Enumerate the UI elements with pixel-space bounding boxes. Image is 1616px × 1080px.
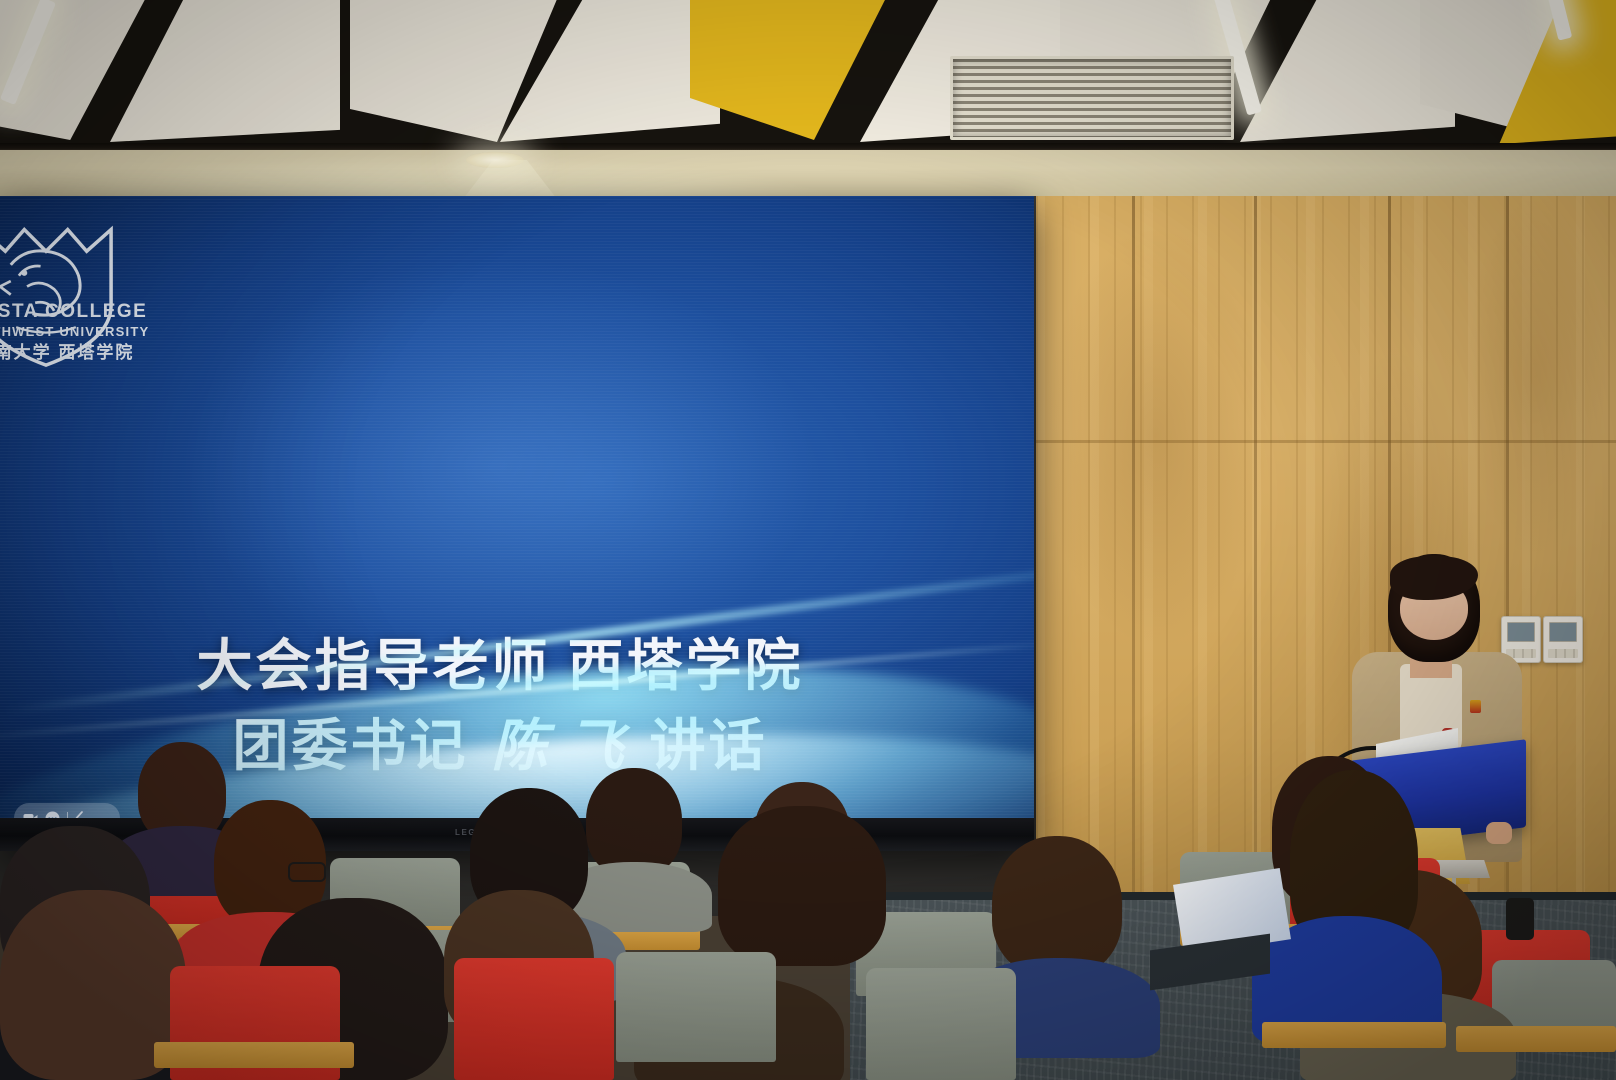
podium-ledge [1296,860,1490,878]
display-screen[interactable]: SIESTA COLLEGE SOUTHWEST UNIVERSITY 西南大学… [0,196,1034,818]
speaker-hand-right [1486,822,1512,844]
audience-shoulder [0,972,186,1080]
college-name-en-secondary: SOUTHWEST UNIVERSITY [0,324,150,340]
slide-title-line-1: 大会指导老师 西塔学院 [0,628,1000,708]
control-panel-buttons[interactable] [1548,649,1578,658]
slide-title: 大会指导老师 西塔学院 团委书记 陈 飞 讲话 [0,628,1000,787]
audience-head [0,890,186,1080]
seat [176,936,310,1032]
ceiling-downlight [466,152,524,168]
seat [396,930,546,1022]
screen-glow [180,256,820,676]
slide-title-line-2-suffix: 讲话 [633,716,768,778]
wall-control-panel[interactable] [1543,616,1583,663]
seat-armrest [140,924,280,946]
more-options-icon[interactable] [45,811,60,819]
control-panel-display [1549,622,1577,642]
slide-title-line-2-prefix: 团委书记 [233,716,486,778]
seat [170,966,340,1080]
wood-seam [1254,196,1257,966]
podium-and-speaker [1290,560,1530,980]
audience-head [258,898,448,1080]
seat-armrest [154,1042,354,1068]
presentation-display[interactable]: SIESTA COLLEGE SOUTHWEST UNIVERSITY 西南大学… [0,196,1034,851]
display-bezel: LEGRAND [0,818,1034,851]
lapel-pin [1470,700,1481,713]
slide-title-line-2: 团委书记 陈 飞 讲话 [0,708,1000,788]
audience-shoulder [446,912,626,1002]
seat-armrest [560,928,700,950]
ceiling-panel-accent [690,0,890,140]
audience-head [634,978,844,1080]
conference-hall-scene: SIESTA COLLEGE SOUTHWEST UNIVERSITY 西南大学… [0,0,1616,1080]
college-name-cn: 西南大学 西塔学院 [0,342,150,363]
speaker-name: 陈 飞 [486,716,633,778]
ceiling [0,0,1616,150]
seat-armrest [330,926,470,948]
audience-shoulder [176,912,362,992]
bull-crest-emblem-icon [1368,912,1410,958]
college-name-block: SIESTA COLLEGE SOUTHWEST UNIVERSITY 西南大学… [0,300,150,363]
wall-trim-band [1036,440,1616,443]
upper-wall-soffit [0,150,1616,202]
wood-seam [1132,196,1135,966]
cast-overlay-toolbar[interactable] [14,803,120,818]
display-brand-label: LEGRAND [455,828,506,837]
ceiling-panel [110,0,340,142]
chevron-left-icon[interactable] [75,811,84,818]
college-name-en-primary: SIESTA COLLEGE [0,300,150,324]
seat [616,952,776,1062]
hvac-vent-grille [950,56,1234,140]
seat [454,958,614,1080]
